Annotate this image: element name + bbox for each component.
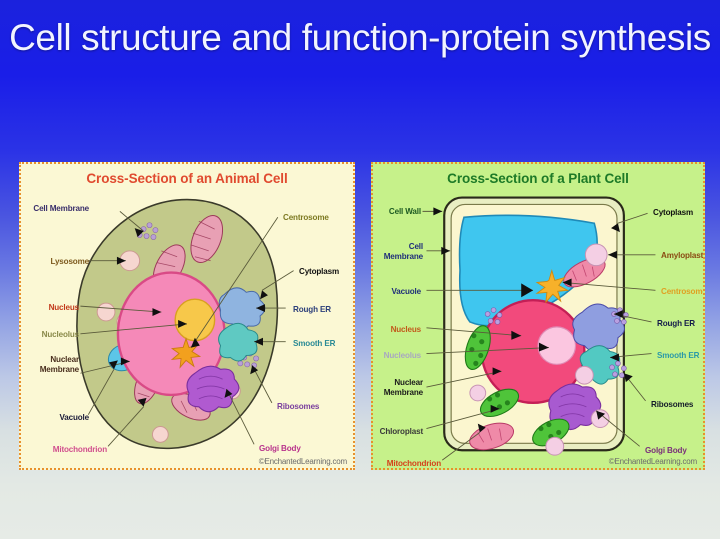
label-smooth-er: Smooth ER [293, 339, 335, 349]
label-golgi-body: Golgi Body [259, 444, 301, 454]
label-cell-membrane: Cell Membrane [33, 204, 89, 214]
label-vacuole: Vacuole [375, 287, 421, 297]
label-golgi-body: Golgi Body [645, 446, 687, 456]
animal-cell-diagram: Cross-Section of an Animal Cell [19, 162, 355, 470]
label-mitochondrion: Mitochondrion [373, 459, 441, 469]
presentation-slide: Cell structure and function-protein synt… [0, 0, 720, 539]
label-nuclear-membrane: Nuclear Membrane [373, 378, 423, 397]
label-lysosome: Lysosome [33, 257, 89, 267]
plant-cell-diagram: Cross-Section of a Plant Cell [371, 162, 705, 470]
page-title: Cell structure and function-protein synt… [0, 14, 720, 61]
label-cell-membrane: Cell Membrane [373, 242, 423, 261]
label-chloroplast: Chloroplast [373, 427, 423, 437]
label-amyloplast: Amyloplast [661, 251, 703, 261]
plant-cell-title: Cross-Section of a Plant Cell [373, 171, 703, 186]
label-ribosomes: Ribosomes [277, 402, 319, 412]
label-centrosome: Centrosome [283, 213, 329, 223]
label-centrosome: Centrosome [661, 287, 705, 297]
label-nucleolus: Nucleolus [375, 351, 421, 361]
label-nucleus: Nucleus [29, 303, 79, 313]
label-mitochondrion: Mitochondrion [27, 445, 107, 455]
label-rough-er: Rough ER [657, 319, 695, 329]
label-vacuole: Vacuole [33, 413, 89, 423]
label-cytoplasm: Cytoplasm [299, 267, 339, 277]
credit-text: ©EnchantedLearning.com [609, 457, 697, 466]
label-ribosomes: Ribosomes [651, 400, 693, 410]
label-cytoplasm: Cytoplasm [653, 208, 693, 218]
label-rough-er: Rough ER [293, 305, 331, 315]
label-smooth-er: Smooth ER [657, 351, 699, 361]
label-nucleus: Nucleus [375, 325, 421, 335]
animal-cell-title: Cross-Section of an Animal Cell [21, 171, 353, 186]
label-nucleolus: Nucleolus [29, 330, 79, 340]
credit-text: ©EnchantedLearning.com [259, 457, 347, 466]
label-cell-wall: Cell Wall [375, 207, 421, 217]
label-nuclear-membrane: Nuclear Membrane [23, 355, 79, 374]
